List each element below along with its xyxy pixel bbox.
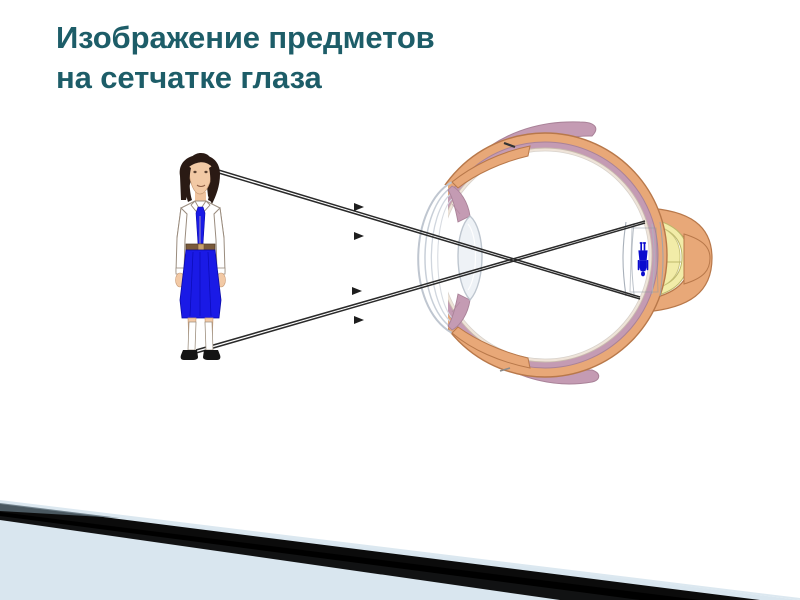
anterior-chamber-cutout	[420, 185, 448, 330]
eye-optics-diagram	[0, 0, 800, 600]
object-schoolgirl	[176, 153, 226, 360]
ray-arrowhead-4	[354, 316, 364, 324]
slide-canvas: Изображение предметов на сетчатке глаза	[0, 0, 800, 600]
belt-buckle	[198, 244, 204, 250]
ray-arrowhead-3	[352, 287, 362, 295]
sock-right	[205, 322, 213, 350]
decorative-corner-band	[0, 500, 800, 600]
eye-diagram-group	[418, 122, 712, 384]
ray-arrowhead-1	[354, 203, 364, 211]
skirt	[180, 250, 221, 318]
necktie	[196, 207, 205, 244]
ray-arrowhead-2	[354, 232, 364, 240]
shoe-right	[203, 350, 220, 360]
shoe-left	[181, 350, 198, 360]
sock-left	[188, 322, 196, 350]
